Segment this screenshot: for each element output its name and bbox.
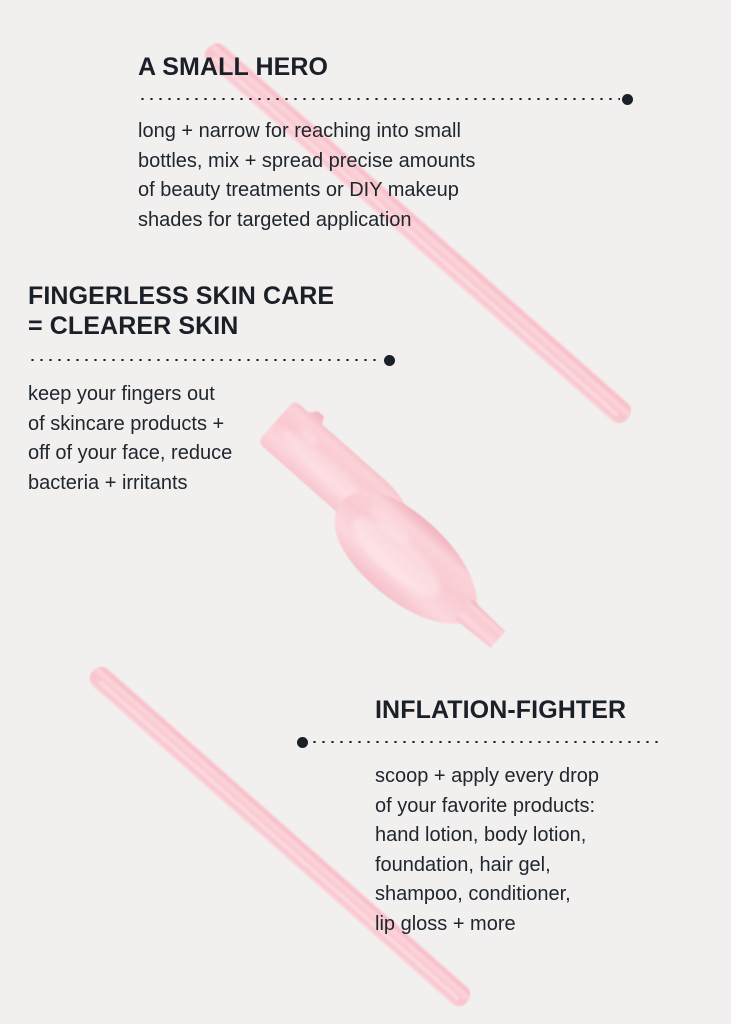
callout-heading: A SMALL HERO [138,52,633,82]
callout-heading: INFLATION-FIGHTER [375,695,659,725]
connector-dot-icon [297,737,308,748]
connector-dot-icon [384,355,395,366]
callout-inflation-fighter: INFLATION-FIGHTER scoop + apply every dr… [297,695,659,939]
callout-body: long + narrow for reaching into small bo… [138,117,633,235]
callout-connector [138,92,633,106]
callout-heading: FINGERLESS SKIN CARE = CLEARER SKIN [28,281,395,341]
callout-connector [297,735,659,749]
callout-fingerless-skin-care: FINGERLESS SKIN CARE = CLEARER SKIN keep… [28,281,395,498]
callout-body: scoop + apply every drop of your favorit… [375,762,659,939]
dotted-line [138,98,620,100]
callout-body: keep your fingers out of skincare produc… [28,380,395,498]
callout-connector [28,353,395,367]
callout-a-small-hero: A SMALL HERO long + narrow for reaching … [138,52,633,235]
infographic-page: A SMALL HERO long + narrow for reaching … [0,0,731,1024]
connector-dot-icon [622,94,633,105]
dotted-line [28,359,382,361]
dotted-line [310,741,659,743]
